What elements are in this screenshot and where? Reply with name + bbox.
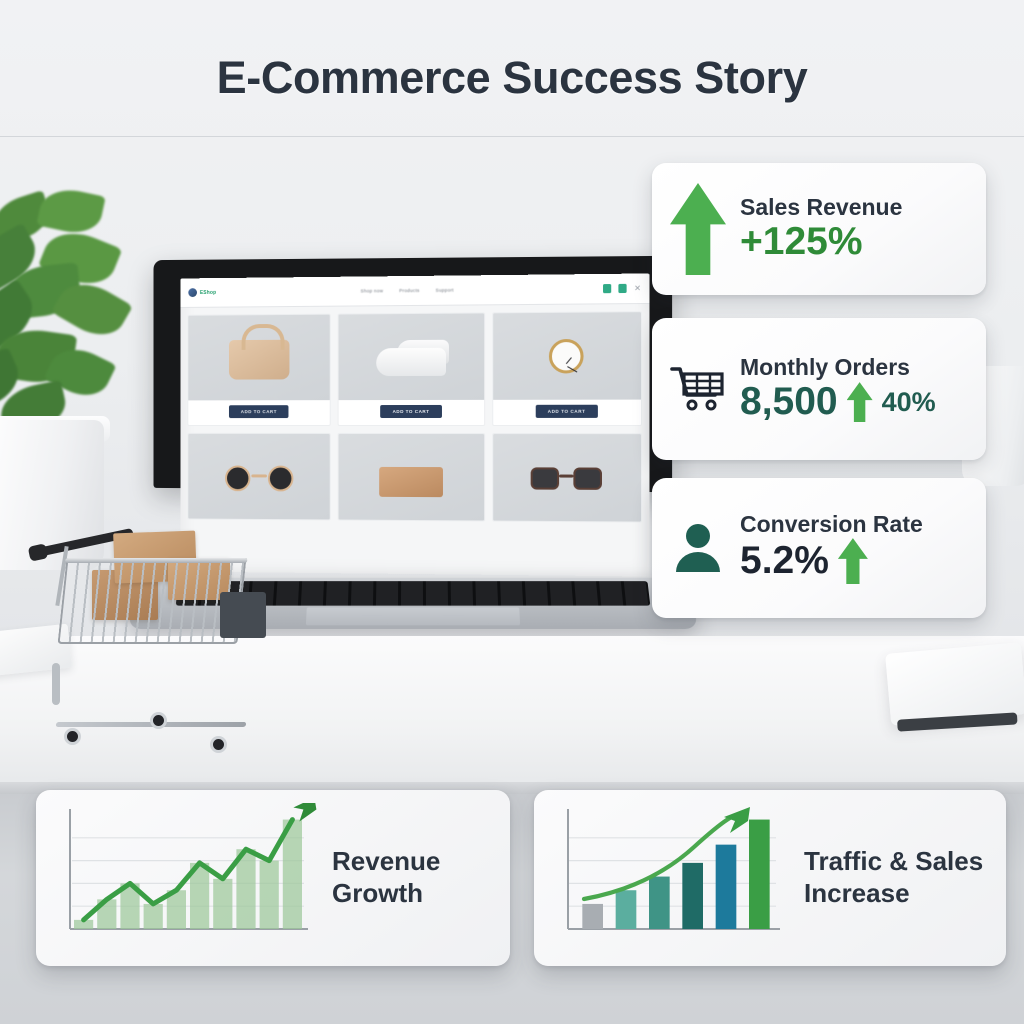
cart-wheel: [150, 712, 167, 729]
stat-card-sales-revenue[interactable]: Sales Revenue +125%: [652, 163, 986, 295]
product-grid: ADD TO CART ADD TO CART: [181, 304, 650, 530]
product-card-handbag[interactable]: ADD TO CART: [187, 314, 331, 426]
store-nav-links: Shop now Products Support: [361, 288, 454, 294]
cart-basket: [57, 558, 246, 644]
tan-box-shape: [379, 467, 443, 497]
cart-icon[interactable]: [619, 284, 627, 293]
round-sunglasses-shape: [225, 465, 293, 491]
stat-value: +125%: [740, 222, 863, 263]
shopping-cart-icon: [670, 364, 726, 414]
cart-wheel: [210, 736, 227, 753]
product-image-sneakers: [339, 313, 484, 400]
user-icon[interactable]: [603, 284, 611, 293]
stat-value: 5.2%: [740, 541, 829, 582]
sneaker-front-shape: [376, 348, 446, 376]
close-icon[interactable]: ✕: [634, 284, 641, 292]
dark-sunglasses-shape: [531, 467, 602, 492]
arrow-up-icon: [847, 382, 873, 422]
product-card-dark-sunglasses[interactable]: [492, 433, 642, 523]
watch-face-shape: [549, 339, 584, 374]
white-notebook: [885, 642, 1024, 726]
laptop-trackpad: [306, 607, 520, 625]
arrow-up-icon: [838, 538, 868, 584]
product-image-tan-box: [339, 434, 484, 521]
product-card-sneakers[interactable]: ADD TO CART: [338, 312, 485, 426]
cart-wheel: [64, 728, 81, 745]
store-nav-icons: ✕: [603, 284, 641, 293]
nav-link-support[interactable]: Support: [436, 288, 454, 293]
add-to-cart-button[interactable]: ADD TO CART: [381, 405, 442, 418]
cart-frame: [52, 663, 60, 705]
stat-label: Sales Revenue: [740, 195, 902, 220]
chart-card-revenue-growth[interactable]: Revenue Growth: [36, 790, 510, 966]
stat-card-monthly-orders[interactable]: Monthly Orders 8,500 40%: [652, 318, 986, 460]
store-navbar: EShop Shop now Products Support ✕: [181, 273, 650, 308]
product-image-dark-sunglasses: [493, 434, 641, 522]
stat-label: Monthly Orders: [740, 355, 936, 380]
chart-title-traffic-sales: Traffic & Sales Increase: [804, 846, 986, 909]
product-image-handbag: [188, 315, 330, 401]
handbag-shape: [229, 339, 289, 379]
chart-title-revenue-growth: Revenue Growth: [332, 846, 490, 909]
logo-mark-icon: [188, 288, 197, 297]
traffic-sales-chart: [554, 803, 790, 954]
store-logo[interactable]: EShop: [188, 288, 216, 297]
chart-card-traffic-sales[interactable]: Traffic & Sales Increase: [534, 790, 1006, 966]
page-title: E-Commerce Success Story: [0, 52, 1024, 104]
nav-link-products[interactable]: Products: [399, 288, 419, 293]
nav-link-shop[interactable]: Shop now: [361, 288, 384, 293]
mini-shopping-cart: [22, 500, 287, 765]
product-image-watch: [493, 312, 641, 400]
stat-delta: 40%: [882, 387, 936, 418]
product-card-watch[interactable]: ADD TO CART: [492, 311, 642, 426]
revenue-growth-chart: [56, 803, 318, 954]
add-to-cart-button[interactable]: ADD TO CART: [229, 405, 289, 418]
stat-card-conversion-rate[interactable]: Conversion Rate 5.2%: [652, 478, 986, 618]
stat-label: Conversion Rate: [740, 512, 923, 537]
arrow-up-icon: [670, 183, 726, 275]
product-card-tan-box[interactable]: [338, 433, 485, 522]
store-brand-name: EShop: [200, 289, 216, 295]
stat-value: 8,500: [740, 382, 838, 423]
cart-dark-panel: [220, 592, 266, 638]
user-icon: [670, 520, 726, 576]
wall-trim-line: [0, 136, 1024, 137]
add-to-cart-button[interactable]: ADD TO CART: [535, 405, 597, 418]
